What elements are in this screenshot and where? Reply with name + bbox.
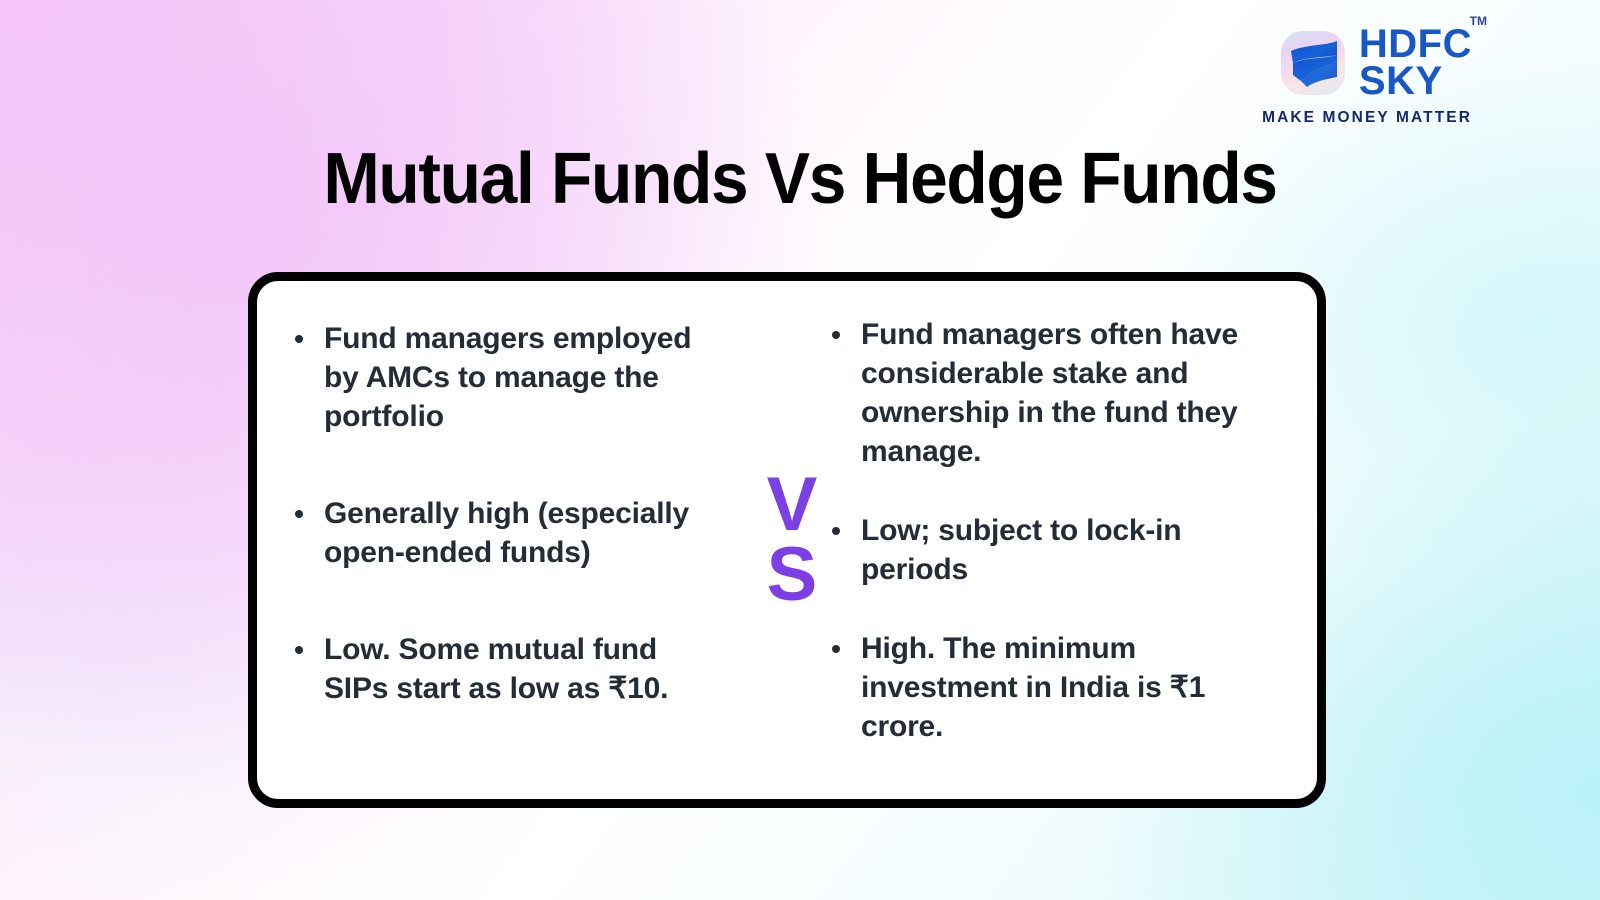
trademark-mark: TM (1470, 16, 1487, 27)
list-item: Low. Some mutual fund SIPs start as low … (291, 630, 711, 708)
brand-logo: HDFC SKY TM MAKE MONEY MATTER (1262, 26, 1472, 127)
hdfc-sky-swoosh-logo-icon (1281, 31, 1345, 95)
list-item: Low; subject to lock-in periods (828, 511, 1258, 589)
page-title: Mutual Funds Vs Hedge Funds (48, 138, 1552, 220)
vs-letter-v: V (762, 470, 822, 540)
infographic-page: HDFC SKY TM MAKE MONEY MATTER Mutual Fun… (0, 0, 1600, 900)
list-item: Generally high (especially open-ended fu… (291, 494, 711, 572)
mutual-funds-bullet-list: Fund managers employed by AMCs to manage… (291, 319, 770, 708)
brand-name-line-2: SKY (1359, 63, 1472, 100)
brand-name-line-1: HDFC (1359, 26, 1472, 63)
list-item: Fund managers employed by AMCs to manage… (291, 319, 711, 436)
brand-wordmark: HDFC SKY TM (1359, 26, 1472, 100)
brand-row: HDFC SKY TM (1281, 26, 1472, 100)
vs-divider: V S (762, 470, 822, 610)
hedge-funds-bullet-list: Fund managers often have considerable st… (828, 315, 1307, 746)
vs-letter-s: S (762, 540, 822, 610)
brand-tagline: MAKE MONEY MATTER (1262, 109, 1472, 127)
list-item: High. The minimum investment in India is… (828, 629, 1258, 746)
mutual-funds-column: Fund managers employed by AMCs to manage… (257, 281, 774, 799)
hedge-funds-column: Fund managers often have considerable st… (774, 281, 1317, 799)
list-item: Fund managers often have considerable st… (828, 315, 1258, 471)
